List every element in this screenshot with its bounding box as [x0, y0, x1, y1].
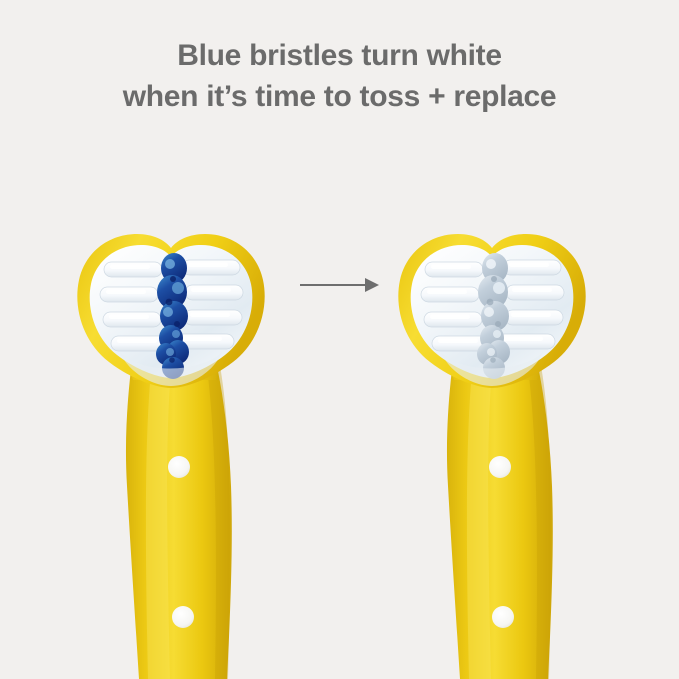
handle-dot [492, 606, 514, 628]
handle-dot [168, 456, 190, 478]
transition-arrow [300, 278, 379, 292]
handle-dot [172, 606, 194, 628]
infographic-canvas: Blue bristles turn white when it’s time … [0, 0, 679, 679]
handle-dot [489, 456, 511, 478]
toothbrush-comparison-illustration [0, 0, 679, 679]
toothbrush-right [398, 234, 585, 679]
toothbrush-left [77, 234, 264, 679]
